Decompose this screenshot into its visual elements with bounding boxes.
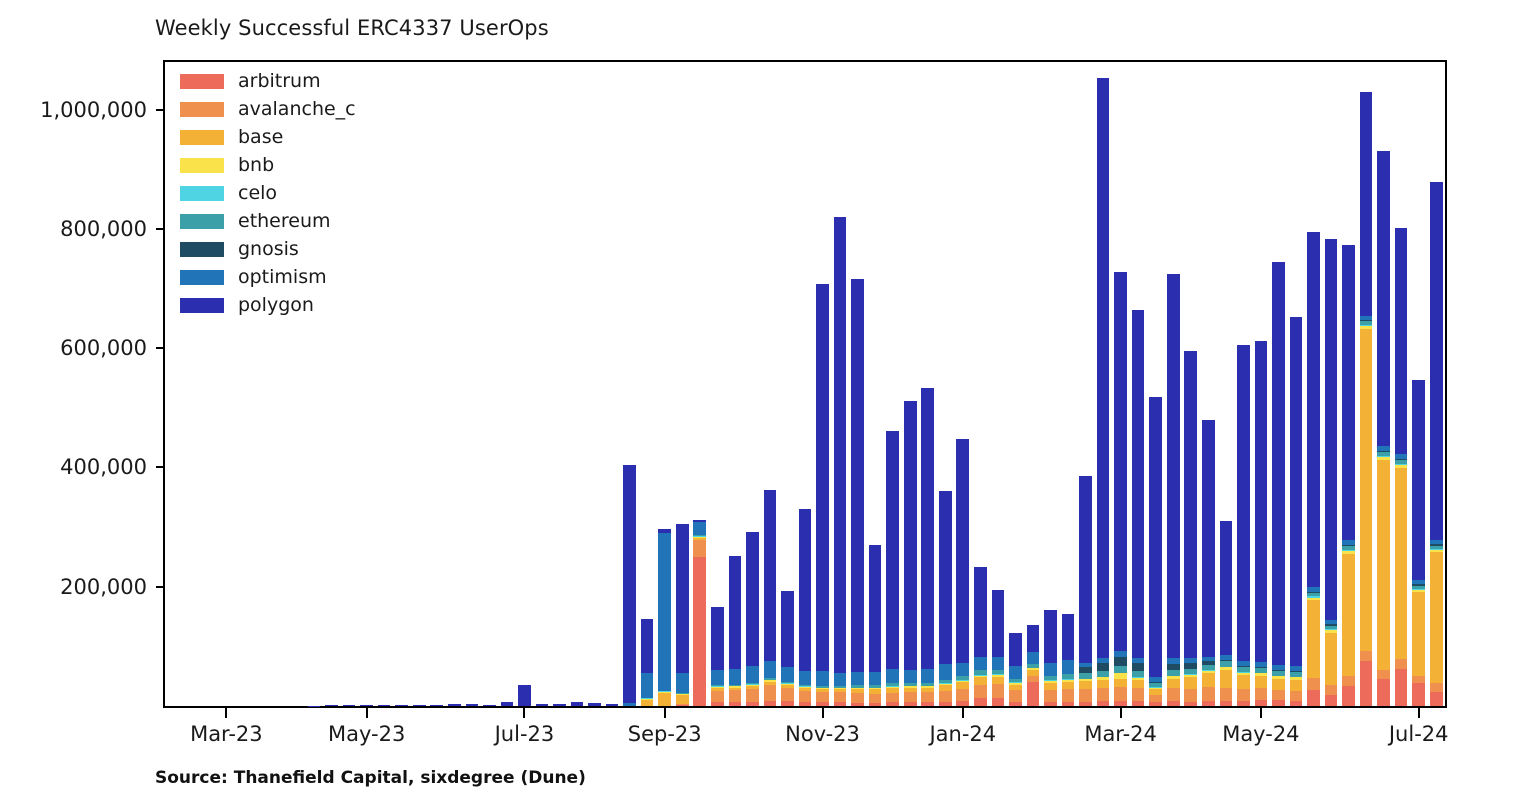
legend-swatch-celo-icon — [180, 186, 224, 201]
bar-segment-arbitrum — [1255, 700, 1268, 706]
bar-segment-polygon — [641, 619, 654, 673]
bar-segment-optimism — [658, 533, 671, 690]
bar-2023-12-18[interactable] — [956, 439, 969, 706]
bar-segment-arbitrum — [1290, 701, 1303, 706]
bar-segment-polygon — [904, 401, 917, 669]
x-tick-label: May-24 — [1222, 722, 1299, 746]
bar-segment-avalanche_c — [1044, 690, 1057, 702]
bar-segment-optimism — [992, 657, 1005, 670]
bar-2023-07-03[interactable] — [536, 704, 549, 706]
legend-item-polygon[interactable]: polygon — [180, 294, 356, 316]
bar-2024-05-06[interactable] — [1307, 232, 1320, 706]
bar-segment-avalanche_c — [1114, 687, 1127, 701]
x-tick-mark — [1120, 708, 1122, 718]
bar-segment-arbitrum — [886, 702, 899, 706]
bar-2024-04-08[interactable] — [1237, 345, 1250, 706]
bar-segment-base — [974, 677, 987, 685]
bar-segment-polygon — [606, 704, 619, 706]
bar-2024-01-01[interactable] — [992, 590, 1005, 706]
bar-2024-06-24[interactable] — [1430, 182, 1443, 706]
bar-segment-base — [1220, 670, 1233, 688]
legend-swatch-bnb-icon — [180, 158, 224, 173]
legend-label: polygon — [238, 294, 314, 316]
bar-segment-arbitrum — [1272, 700, 1285, 706]
legend-swatch-optimism-icon — [180, 270, 224, 285]
legend-swatch-arbitrum-icon — [180, 74, 224, 89]
bar-segment-polygon — [746, 532, 759, 666]
bar-segment-polygon — [430, 705, 443, 706]
bar-segment-avalanche_c — [1220, 688, 1233, 701]
bar-segment-optimism — [676, 673, 689, 693]
x-tick-mark — [822, 708, 824, 718]
bar-segment-arbitrum — [1220, 701, 1233, 706]
x-tick-mark — [664, 708, 666, 718]
bar-2023-04-10[interactable] — [325, 705, 338, 706]
bar-2023-07-17[interactable] — [571, 702, 584, 706]
bar-segment-base — [1184, 677, 1197, 688]
bar-segment-arbitrum — [799, 702, 812, 706]
bar-2024-04-22[interactable] — [1272, 262, 1285, 706]
bar-2023-05-01[interactable] — [378, 705, 391, 706]
y-tick-mark — [156, 228, 164, 230]
bar-2023-09-18[interactable] — [729, 556, 742, 706]
bar-2023-05-29[interactable] — [448, 704, 461, 706]
bar-segment-avalanche_c — [711, 691, 724, 703]
bar-2023-08-14[interactable] — [641, 619, 654, 706]
bar-segment-polygon — [1027, 625, 1040, 652]
bar-segment-base — [1307, 600, 1320, 678]
bar-segment-optimism — [869, 672, 882, 685]
bar-2023-09-11[interactable] — [711, 607, 724, 706]
bar-2023-09-04[interactable] — [693, 520, 706, 706]
bar-segment-polygon — [360, 705, 373, 706]
y-tick-label: 600,000 — [60, 336, 147, 360]
legend-label: ethereum — [238, 210, 331, 232]
bar-segment-polygon — [413, 705, 426, 706]
bar-segment-arbitrum — [711, 702, 724, 706]
bar-segment-arbitrum — [1132, 701, 1145, 706]
bar-segment-polygon — [1149, 397, 1162, 677]
bar-segment-polygon — [1395, 228, 1408, 455]
bar-segment-arbitrum — [939, 702, 952, 706]
bar-segment-polygon — [325, 705, 338, 706]
bar-segment-avalanche_c — [781, 688, 794, 701]
bar-2023-06-05[interactable] — [466, 704, 479, 706]
chart-title: Weekly Successful ERC4337 UserOps — [155, 16, 549, 40]
bar-segment-optimism — [851, 672, 864, 685]
bar-segment-polygon — [343, 705, 356, 706]
legend-swatch-gnosis-icon — [180, 242, 224, 257]
legend-item-base[interactable]: base — [180, 126, 356, 148]
source-note: Source: Thanefield Capital, sixdegree (D… — [155, 768, 586, 788]
bar-segment-polygon — [781, 591, 794, 667]
x-tick-label: Mar-23 — [190, 722, 263, 746]
bar-segment-polygon — [1255, 341, 1268, 662]
bar-segment-polygon — [1114, 272, 1127, 651]
bar-2023-11-20[interactable] — [886, 431, 899, 706]
bar-segment-arbitrum — [816, 702, 829, 706]
x-tick-label: Sep-23 — [628, 722, 702, 746]
bar-segment-optimism — [816, 671, 829, 685]
bar-segment-polygon — [851, 279, 864, 673]
legend-item-arbitrum[interactable]: arbitrum — [180, 70, 356, 92]
bar-segment-avalanche_c — [939, 691, 952, 702]
bar-segment-arbitrum — [904, 702, 917, 706]
bar-segment-polygon — [886, 431, 899, 670]
bar-segment-arbitrum — [1149, 702, 1162, 706]
bar-segment-base — [641, 700, 654, 706]
bar-segment-base — [1044, 683, 1057, 690]
y-tick-mark — [156, 347, 164, 349]
bar-segment-arbitrum — [764, 701, 777, 706]
bar-segment-arbitrum — [974, 698, 987, 706]
bar-segment-avalanche_c — [1377, 670, 1390, 679]
y-tick-label: 200,000 — [60, 575, 147, 599]
bar-2023-11-13[interactable] — [869, 545, 882, 706]
bar-segment-polygon — [395, 705, 408, 706]
bar-segment-arbitrum — [781, 701, 794, 706]
bar-2023-04-17[interactable] — [343, 705, 356, 706]
bar-segment-arbitrum — [1009, 702, 1022, 706]
bar-segment-polygon — [1272, 262, 1285, 664]
bar-segment-polygon — [1079, 476, 1092, 663]
bar-segment-polygon — [1377, 151, 1390, 446]
bar-segment-optimism — [974, 657, 987, 670]
legend-item-gnosis[interactable]: gnosis — [180, 238, 356, 260]
bar-segment-optimism — [939, 664, 952, 680]
legend-swatch-polygon-icon — [180, 298, 224, 313]
bar-2024-03-04[interactable] — [1149, 397, 1162, 706]
bar-segment-avalanche_c — [1184, 689, 1197, 702]
legend-item-optimism[interactable]: optimism — [180, 266, 356, 288]
bar-2024-05-20[interactable] — [1342, 245, 1355, 706]
bar-2023-04-24[interactable] — [360, 705, 373, 706]
bar-segment-polygon — [1132, 310, 1145, 658]
bar-segment-arbitrum — [693, 557, 706, 706]
bar-segment-avalanche_c — [799, 691, 812, 702]
bar-segment-base — [1290, 680, 1303, 691]
bar-segment-polygon — [1237, 345, 1250, 661]
bar-2024-03-11[interactable] — [1167, 274, 1180, 706]
bar-segment-base — [658, 693, 671, 706]
bar-2023-05-15[interactable] — [413, 705, 426, 706]
legend-label: avalanche_c — [238, 98, 356, 120]
bar-segment-avalanche_c — [1342, 676, 1355, 686]
legend-item-bnb[interactable]: bnb — [180, 154, 356, 176]
bar-segment-avalanche_c — [974, 685, 987, 698]
bar-segment-polygon — [378, 705, 391, 706]
bar-segment-avalanche_c — [1062, 689, 1075, 702]
legend-label: arbitrum — [238, 70, 321, 92]
bar-segment-avalanche_c — [1097, 688, 1110, 701]
x-tick-mark — [1418, 708, 1420, 718]
bar-segment-polygon — [869, 545, 882, 672]
bar-segment-polygon — [834, 217, 847, 673]
bar-2023-08-07[interactable] — [623, 465, 636, 707]
bar-segment-arbitrum — [1325, 695, 1338, 706]
x-tick-label: Jan-24 — [929, 722, 996, 746]
bar-segment-arbitrum — [921, 702, 934, 706]
bar-2023-07-10[interactable] — [553, 704, 566, 706]
bar-segment-arbitrum — [676, 705, 689, 706]
bar-segment-arbitrum — [1114, 701, 1127, 706]
bar-segment-polygon — [729, 556, 742, 669]
bar-segment-polygon — [501, 702, 514, 706]
bar-segment-optimism — [904, 670, 917, 683]
bar-segment-polygon — [571, 702, 584, 706]
bar-segment-optimism — [1009, 666, 1022, 679]
bar-segment-avalanche_c — [764, 685, 777, 701]
bar-segment-avalanche_c — [1412, 676, 1425, 684]
legend-swatch-ethereum-icon — [180, 214, 224, 229]
bar-segment-optimism — [746, 666, 759, 683]
bar-segment-avalanche_c — [1360, 651, 1373, 661]
bar-segment-base — [1202, 673, 1215, 687]
bar-2024-03-25[interactable] — [1202, 420, 1215, 706]
bar-2024-03-18[interactable] — [1184, 351, 1197, 706]
bar-2024-05-27[interactable] — [1360, 92, 1373, 706]
bar-segment-avalanche_c — [904, 692, 917, 702]
bar-segment-arbitrum — [1307, 690, 1320, 706]
bar-segment-avalanche_c — [1237, 689, 1250, 700]
bar-segment-optimism — [1027, 652, 1040, 664]
bar-2023-12-04[interactable] — [921, 388, 934, 706]
bar-segment-arbitrum — [1342, 686, 1355, 706]
y-tick-mark — [156, 466, 164, 468]
x-tick-label: Mar-24 — [1084, 722, 1157, 746]
bar-segment-base — [1079, 681, 1092, 689]
x-tick-label: Jul-23 — [495, 722, 555, 746]
legend-label: gnosis — [238, 238, 299, 260]
bar-segment-polygon — [553, 704, 566, 706]
y-tick-label: 1,000,000 — [40, 98, 147, 122]
bar-segment-avalanche_c — [1395, 659, 1408, 669]
y-tick-label: 800,000 — [60, 217, 147, 241]
bar-segment-avalanche_c — [851, 693, 864, 703]
bar-2023-06-26[interactable] — [518, 685, 531, 706]
bar-segment-arbitrum — [1430, 692, 1443, 706]
bar-segment-polygon — [1062, 614, 1075, 661]
legend-item-celo[interactable]: celo — [180, 182, 356, 204]
bar-segment-polygon — [466, 704, 479, 706]
bar-segment-gnosis — [1097, 663, 1110, 671]
x-tick-label: May-23 — [328, 722, 405, 746]
bar-segment-arbitrum — [1395, 669, 1408, 706]
bar-segment-polygon — [1167, 274, 1180, 658]
bar-segment-avalanche_c — [1202, 687, 1215, 701]
bar-2024-02-26[interactable] — [1132, 310, 1145, 706]
bar-2023-06-12[interactable] — [483, 705, 496, 706]
bar-2023-08-21[interactable] — [658, 529, 671, 706]
bar-segment-avalanche_c — [1079, 689, 1092, 702]
bar-segment-avalanche_c — [1132, 688, 1145, 701]
bar-segment-avalanche_c — [1255, 688, 1268, 701]
bar-segment-polygon — [956, 439, 969, 663]
bar-segment-base — [1360, 329, 1373, 651]
bar-2024-04-29[interactable] — [1290, 317, 1303, 706]
bar-segment-gnosis — [1132, 663, 1145, 671]
bar-segment-polygon — [974, 567, 987, 658]
x-tick-mark — [523, 708, 525, 718]
bar-segment-polygon — [799, 509, 812, 671]
bar-segment-optimism — [834, 673, 847, 686]
bar-segment-base — [1062, 682, 1075, 690]
bar-2023-05-08[interactable] — [395, 705, 408, 706]
bar-segment-base — [676, 695, 689, 704]
bar-segment-polygon — [1307, 232, 1320, 587]
bar-segment-optimism — [693, 522, 706, 535]
bar-segment-base — [1132, 680, 1145, 688]
bar-2023-11-06[interactable] — [851, 278, 864, 706]
bar-segment-polygon — [1097, 78, 1110, 658]
bar-segment-avalanche_c — [1430, 683, 1443, 691]
bar-segment-base — [1167, 679, 1180, 689]
bar-segment-arbitrum — [992, 698, 1005, 706]
bar-2023-07-31[interactable] — [606, 704, 619, 706]
bar-2024-01-29[interactable] — [1062, 614, 1075, 706]
bar-segment-arbitrum — [1079, 702, 1092, 706]
bar-segment-polygon — [1342, 245, 1355, 540]
bar-2023-05-22[interactable] — [430, 705, 443, 706]
bar-segment-base — [1342, 554, 1355, 676]
bar-segment-optimism — [956, 663, 969, 676]
bar-2024-06-10[interactable] — [1395, 228, 1408, 706]
x-tick-label: Jul-24 — [1389, 722, 1449, 746]
bar-2023-07-24[interactable] — [588, 703, 601, 706]
bar-segment-polygon — [1044, 610, 1057, 662]
bar-segment-arbitrum — [1202, 701, 1215, 706]
bar-segment-optimism — [921, 669, 934, 683]
bar-2023-12-25[interactable] — [974, 566, 987, 706]
legend-swatch-base-icon — [180, 130, 224, 145]
bar-segment-arbitrum — [956, 701, 969, 706]
legend-item-avalanche_c[interactable]: avalanche_c — [180, 98, 356, 120]
bar-segment-polygon — [1220, 521, 1233, 655]
bar-segment-polygon — [1325, 239, 1338, 619]
bar-segment-base — [1395, 468, 1408, 659]
bar-segment-polygon — [992, 590, 1005, 657]
bar-segment-arbitrum — [1184, 702, 1197, 706]
bar-2024-01-15[interactable] — [1027, 625, 1040, 706]
bar-segment-base — [1325, 633, 1338, 685]
bar-segment-polygon — [1202, 420, 1215, 657]
bar-segment-polygon — [764, 490, 777, 662]
bar-segment-arbitrum — [746, 702, 759, 706]
legend-swatch-avalanche_c-icon — [180, 102, 224, 117]
bar-segment-avalanche_c — [729, 690, 742, 703]
bar-2024-01-22[interactable] — [1044, 610, 1057, 706]
bar-segment-polygon — [921, 388, 934, 668]
bar-segment-polygon — [536, 704, 549, 706]
bar-segment-arbitrum — [1360, 661, 1373, 706]
bar-segment-optimism — [886, 669, 899, 683]
bar-2023-10-09[interactable] — [781, 591, 794, 706]
bar-2024-06-03[interactable] — [1377, 151, 1390, 706]
bar-segment-arbitrum — [869, 703, 882, 706]
x-tick-mark — [225, 708, 227, 718]
bar-2024-06-17[interactable] — [1412, 380, 1425, 706]
bar-segment-gnosis — [1114, 657, 1127, 667]
bar-2023-10-23[interactable] — [816, 284, 829, 706]
bar-segment-polygon — [1430, 182, 1443, 540]
bar-segment-optimism — [623, 703, 636, 706]
bar-2024-02-05[interactable] — [1079, 476, 1092, 706]
bar-segment-polygon — [448, 704, 461, 706]
bar-segment-avalanche_c — [834, 692, 847, 702]
bar-2023-12-11[interactable] — [939, 491, 952, 706]
bar-2023-10-30[interactable] — [834, 216, 847, 706]
bar-segment-arbitrum — [1044, 702, 1057, 706]
bar-2024-04-15[interactable] — [1255, 340, 1268, 706]
bar-segment-avalanche_c — [886, 693, 899, 703]
bar-segment-avalanche_c — [1290, 691, 1303, 701]
x-tick-mark — [1260, 708, 1262, 718]
legend-label: bnb — [238, 154, 274, 176]
bar-2023-09-25[interactable] — [746, 532, 759, 706]
bar-2023-10-16[interactable] — [799, 509, 812, 706]
bar-segment-avalanche_c — [921, 692, 934, 702]
bar-segment-polygon — [816, 284, 829, 672]
bar-segment-base — [1114, 679, 1127, 687]
bar-segment-base — [992, 677, 1005, 684]
bar-segment-avalanche_c — [1307, 678, 1320, 690]
bar-segment-avalanche_c — [1167, 688, 1180, 701]
bar-segment-optimism — [729, 669, 742, 685]
bar-segment-base — [1377, 460, 1390, 670]
bar-segment-arbitrum — [1062, 702, 1075, 706]
bar-2023-10-02[interactable] — [764, 490, 777, 706]
bar-segment-polygon — [1412, 380, 1425, 580]
bars-layer — [165, 62, 1445, 706]
bar-segment-arbitrum — [1377, 679, 1390, 706]
bar-2023-08-28[interactable] — [676, 524, 689, 706]
bar-segment-optimism — [764, 661, 777, 678]
bar-segment-polygon — [676, 524, 689, 673]
bar-segment-avalanche_c — [693, 540, 706, 557]
bar-segment-polygon — [588, 703, 601, 706]
bar-2024-05-13[interactable] — [1325, 239, 1338, 706]
x-tick-label: Nov-23 — [785, 722, 860, 746]
bar-segment-polygon — [1184, 351, 1197, 658]
bar-2024-02-12[interactable] — [1097, 78, 1110, 706]
bar-2024-01-08[interactable] — [1009, 633, 1022, 706]
bar-segment-avalanche_c — [816, 692, 829, 702]
bar-segment-optimism — [711, 670, 724, 686]
bar-2024-02-19[interactable] — [1114, 272, 1127, 706]
bar-segment-optimism — [641, 673, 654, 698]
legend-item-ethereum[interactable]: ethereum — [180, 210, 356, 232]
legend-label: celo — [238, 182, 277, 204]
bar-segment-polygon — [711, 607, 724, 670]
bar-segment-polygon — [623, 465, 636, 704]
legend: arbitrumavalanche_cbasebnbceloethereumgn… — [180, 70, 356, 316]
bar-2023-06-19[interactable] — [501, 702, 514, 706]
bar-segment-avalanche_c — [956, 689, 969, 701]
bar-segment-base — [1412, 592, 1425, 675]
bar-2024-04-01[interactable] — [1220, 521, 1233, 706]
legend-label: base — [238, 126, 283, 148]
bar-segment-avalanche_c — [746, 689, 759, 702]
bar-2023-11-27[interactable] — [904, 401, 917, 706]
bar-segment-base — [1430, 552, 1443, 683]
bar-segment-arbitrum — [729, 702, 742, 706]
bar-segment-arbitrum — [1412, 683, 1425, 706]
bar-segment-optimism — [781, 667, 794, 681]
bar-segment-optimism — [1062, 660, 1075, 674]
bar-segment-arbitrum — [851, 703, 864, 706]
y-tick-label: 400,000 — [60, 455, 147, 479]
bar-segment-polygon — [518, 685, 531, 706]
